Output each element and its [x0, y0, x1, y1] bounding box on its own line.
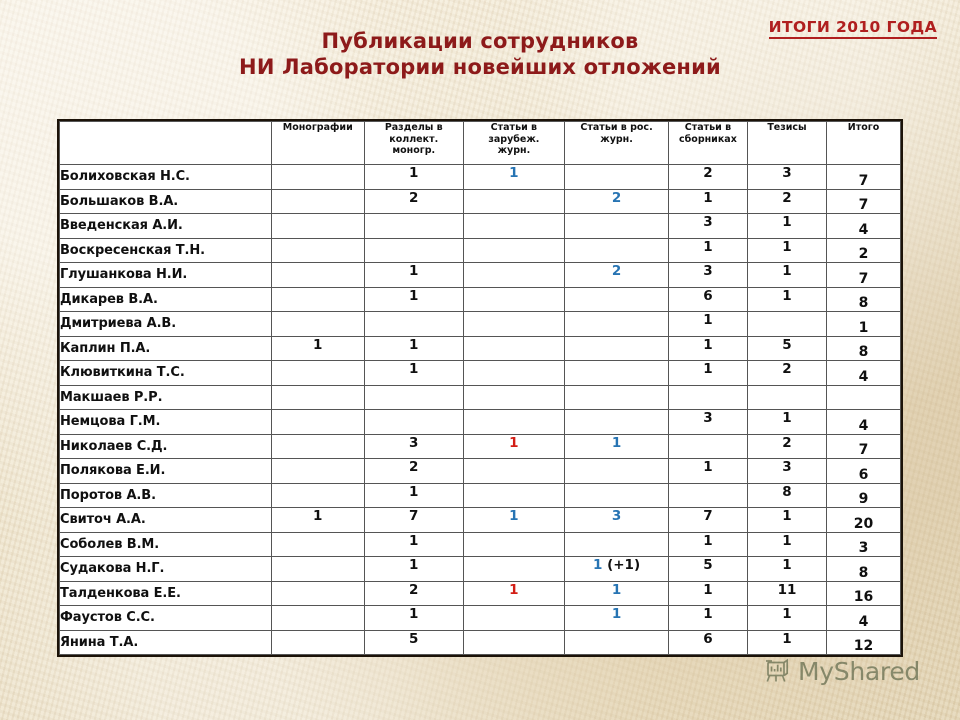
row-cell-2 [463, 557, 565, 582]
row-employee-name: Введенская А.И. [60, 214, 272, 239]
row-cell-3 [565, 238, 669, 263]
row-cell-0 [271, 581, 364, 606]
row-cell-1: 1 [364, 483, 463, 508]
row-cell-1: 3 [364, 434, 463, 459]
cell-value: 1 [509, 582, 518, 598]
row-cell-3: 2 [565, 189, 669, 214]
row-cell-5: 1 [747, 508, 826, 533]
publications-grid: МонографииРазделы вколлект.моногр.Статьи… [59, 121, 901, 655]
row-cell-3 [565, 532, 669, 557]
cell-value: 1 [782, 288, 791, 304]
cell-value: 1 [612, 606, 621, 622]
cell-value: 1 [703, 312, 712, 328]
column-header-line: коллект. [365, 134, 463, 146]
row-cell-0 [271, 532, 364, 557]
column-header-5: Тезисы [747, 122, 826, 165]
page-title-line-2: НИ Лаборатории новейших отложений [0, 54, 960, 81]
row-cell-1: 5 [364, 630, 463, 655]
cell-value: 3 [782, 459, 791, 475]
cell-value: 3 [782, 165, 791, 181]
cell-value: 1 [409, 337, 418, 353]
column-header-line: Разделы в [365, 122, 463, 134]
table-row: Немцова Г.М.314 [60, 410, 901, 435]
row-cell-5 [747, 312, 826, 337]
row-cell-1: 2 [364, 459, 463, 484]
cell-value: 3 [612, 508, 621, 524]
cell-value: 1 [612, 582, 621, 598]
row-cell-1 [364, 238, 463, 263]
row-cell-3 [565, 385, 669, 410]
row-cell-3 [565, 361, 669, 386]
row-cell-1: 2 [364, 189, 463, 214]
row-cell-2 [463, 263, 565, 288]
row-cell-0: 1 [271, 508, 364, 533]
row-cell-0 [271, 238, 364, 263]
row-cell-2 [463, 532, 565, 557]
row-cell-4: 1 [668, 532, 747, 557]
table-row: Янина Т.А.56112 [60, 630, 901, 655]
row-cell-5: 1 [747, 630, 826, 655]
column-header-line: Статьи в [669, 122, 747, 134]
row-cell-3 [565, 630, 669, 655]
row-cell-2: 1 [463, 165, 565, 190]
cell-value: 2 [782, 190, 791, 206]
row-employee-name: Дмитриева А.В. [60, 312, 272, 337]
row-cell-4: 1 [668, 361, 747, 386]
row-cell-0 [271, 214, 364, 239]
row-employee-name: Янина Т.А. [60, 630, 272, 655]
row-total: 16 [827, 581, 901, 606]
row-employee-name: Болиховская Н.С. [60, 165, 272, 190]
cell-value: 2 [409, 190, 418, 206]
row-cell-1: 1 [364, 606, 463, 631]
row-cell-2 [463, 385, 565, 410]
cell-value: 1 [782, 631, 791, 647]
column-header-line: журн. [464, 145, 565, 157]
row-cell-3 [565, 165, 669, 190]
row-cell-4: 1 [668, 238, 747, 263]
cell-value: 1 [509, 508, 518, 524]
table-row: Клювиткина Т.С.1124 [60, 361, 901, 386]
table-row: Фаустов С.С.11114 [60, 606, 901, 631]
column-header-line: Итого [827, 122, 900, 134]
cell-value: 2 [782, 361, 791, 377]
table-row: Болиховская Н.С.11237 [60, 165, 901, 190]
row-cell-1: 1 [364, 361, 463, 386]
column-header-line: Статьи в [464, 122, 565, 134]
row-cell-0 [271, 312, 364, 337]
cell-value: 1 [782, 508, 791, 524]
column-header-4: Статьи всборниках [668, 122, 747, 165]
cell-value: 2 [409, 459, 418, 475]
row-cell-1: 7 [364, 508, 463, 533]
row-cell-5: 2 [747, 361, 826, 386]
row-cell-4: 3 [668, 263, 747, 288]
cell-value: 1 [612, 435, 621, 451]
cell-value: 1 [703, 459, 712, 475]
cell-value: 1 [409, 263, 418, 279]
table-header: МонографииРазделы вколлект.моногр.Статьи… [60, 122, 901, 165]
cell-value: 1 [409, 557, 418, 573]
row-cell-2 [463, 630, 565, 655]
column-header-line: Тезисы [748, 122, 826, 134]
cell-value: 1 [782, 533, 791, 549]
row-cell-1: 1 [364, 263, 463, 288]
row-cell-4: 1 [668, 606, 747, 631]
cell-value: 1 [509, 165, 518, 181]
row-cell-4: 2 [668, 165, 747, 190]
row-cell-1: 1 [364, 336, 463, 361]
row-employee-name: Клювиткина Т.С. [60, 361, 272, 386]
row-employee-name: Николаев С.Д. [60, 434, 272, 459]
cell-value: 1 [593, 557, 602, 573]
row-cell-5: 3 [747, 165, 826, 190]
row-cell-5: 2 [747, 189, 826, 214]
table-row: Большаков В.А.22127 [60, 189, 901, 214]
row-cell-3 [565, 312, 669, 337]
cell-value: 1 [703, 239, 712, 255]
row-cell-3: 2 [565, 263, 669, 288]
column-header-line: Статьи в рос. [565, 122, 668, 134]
cell-value: 11 [778, 582, 797, 598]
row-total: 4 [827, 410, 901, 435]
row-cell-5: 1 [747, 263, 826, 288]
row-employee-name: Свиточ А.А. [60, 508, 272, 533]
row-total: 6 [827, 459, 901, 484]
row-cell-3 [565, 287, 669, 312]
row-total: 4 [827, 214, 901, 239]
row-cell-3: 3 [565, 508, 669, 533]
table-row: Дмитриева А.В.11 [60, 312, 901, 337]
row-cell-4: 1 [668, 581, 747, 606]
row-cell-2 [463, 459, 565, 484]
row-cell-0 [271, 263, 364, 288]
cell-value: 5 [782, 337, 791, 353]
row-cell-2: 1 [463, 508, 565, 533]
cell-value: 1 [409, 533, 418, 549]
row-cell-4: 3 [668, 410, 747, 435]
row-cell-4: 1 [668, 459, 747, 484]
row-employee-name: Каплин П.А. [60, 336, 272, 361]
cell-value: 2 [612, 263, 621, 279]
cell-value: 1 [313, 337, 322, 353]
table-row: Свиточ А.А.17137120 [60, 508, 901, 533]
row-total: 9 [827, 483, 901, 508]
row-cell-0: 1 [271, 336, 364, 361]
row-total [827, 385, 901, 410]
row-cell-3: 1 [565, 606, 669, 631]
column-header-2: Статьи взарубеж.журн. [463, 122, 565, 165]
cell-value-suffix: (+1) [602, 557, 640, 573]
column-header-name [60, 122, 272, 165]
table-row: Полякова Е.И.2136 [60, 459, 901, 484]
row-cell-4 [668, 434, 747, 459]
row-cell-3: 1 [565, 434, 669, 459]
cell-value: 1 [782, 606, 791, 622]
row-cell-5: 1 [747, 238, 826, 263]
row-total: 20 [827, 508, 901, 533]
row-cell-2 [463, 410, 565, 435]
row-cell-2 [463, 287, 565, 312]
row-total: 12 [827, 630, 901, 655]
row-total: 2 [827, 238, 901, 263]
watermark-label: MyShared [798, 657, 920, 686]
cell-value: 1 [409, 361, 418, 377]
row-employee-name: Воскресенская Т.Н. [60, 238, 272, 263]
row-total: 8 [827, 287, 901, 312]
cell-value: 2 [409, 582, 418, 598]
row-cell-2 [463, 312, 565, 337]
row-cell-0 [271, 410, 364, 435]
cell-value: 7 [409, 508, 418, 524]
row-cell-0 [271, 361, 364, 386]
row-employee-name: Соболев В.М. [60, 532, 272, 557]
row-cell-5: 1 [747, 532, 826, 557]
row-total: 4 [827, 606, 901, 631]
row-employee-name: Немцова Г.М. [60, 410, 272, 435]
cell-value: 7 [703, 508, 712, 524]
presentation-chart-icon [762, 656, 792, 686]
row-cell-1: 1 [364, 165, 463, 190]
row-cell-3 [565, 214, 669, 239]
row-cell-4: 5 [668, 557, 747, 582]
row-total: 8 [827, 557, 901, 582]
cell-value: 1 [509, 435, 518, 451]
row-employee-name: Талденкова Е.Е. [60, 581, 272, 606]
row-cell-1 [364, 410, 463, 435]
table-row: Макшаев Р.Р. [60, 385, 901, 410]
myshared-watermark: MyShared [762, 656, 920, 686]
row-cell-2 [463, 361, 565, 386]
row-employee-name: Судакова Н.Г. [60, 557, 272, 582]
row-cell-0 [271, 557, 364, 582]
cell-value: 2 [612, 190, 621, 206]
row-cell-5: 1 [747, 410, 826, 435]
row-cell-2 [463, 336, 565, 361]
table-row: Глушанкова Н.И.12317 [60, 263, 901, 288]
row-cell-4 [668, 483, 747, 508]
table-header-row: МонографииРазделы вколлект.моногр.Статьи… [60, 122, 901, 165]
table-row: Дикарев В.А.1618 [60, 287, 901, 312]
cell-value: 2 [703, 165, 712, 181]
row-cell-0 [271, 189, 364, 214]
cell-value: 1 [703, 337, 712, 353]
row-cell-5: 1 [747, 557, 826, 582]
row-cell-2 [463, 483, 565, 508]
results-year-badge: ИТОГИ 2010 ГОДА [769, 18, 937, 39]
cell-value: 1 [782, 410, 791, 426]
table-row: Поротов А.В.189 [60, 483, 901, 508]
row-cell-2 [463, 238, 565, 263]
row-total: 8 [827, 336, 901, 361]
column-header-line: зарубеж. [464, 134, 565, 146]
column-header-3: Статьи в рос.журн. [565, 122, 669, 165]
row-cell-0 [271, 606, 364, 631]
table-row: Николаев С.Д.31127 [60, 434, 901, 459]
cell-value: 5 [409, 631, 418, 647]
row-employee-name: Дикарев В.А. [60, 287, 272, 312]
cell-value: 1 [703, 582, 712, 598]
table-row: Воскресенская Т.Н.112 [60, 238, 901, 263]
publications-table: МонографииРазделы вколлект.моногр.Статьи… [57, 119, 903, 657]
cell-value: 6 [703, 631, 712, 647]
row-cell-5: 2 [747, 434, 826, 459]
column-header-line: сборниках [669, 134, 747, 146]
row-cell-1 [364, 214, 463, 239]
row-cell-2 [463, 214, 565, 239]
cell-value: 1 [782, 263, 791, 279]
row-cell-0 [271, 459, 364, 484]
cell-value: 1 [782, 557, 791, 573]
row-cell-0 [271, 165, 364, 190]
row-employee-name: Поротов А.В. [60, 483, 272, 508]
row-employee-name: Большаков В.А. [60, 189, 272, 214]
cell-value: 1 [782, 239, 791, 255]
table-row: Талденкова Е.Е.21111116 [60, 581, 901, 606]
cell-value: 1 [409, 606, 418, 622]
row-cell-2: 1 [463, 434, 565, 459]
row-total: 7 [827, 165, 901, 190]
row-employee-name: Макшаев Р.Р. [60, 385, 272, 410]
row-cell-5: 1 [747, 606, 826, 631]
cell-value: 8 [782, 484, 791, 500]
row-cell-0 [271, 385, 364, 410]
row-cell-1: 2 [364, 581, 463, 606]
table-row: Введенская А.И.314 [60, 214, 901, 239]
row-cell-0 [271, 287, 364, 312]
row-cell-3 [565, 336, 669, 361]
cell-value: 1 [409, 288, 418, 304]
cell-value: 1 [782, 214, 791, 230]
row-cell-0 [271, 434, 364, 459]
row-cell-5: 1 [747, 287, 826, 312]
row-cell-5: 8 [747, 483, 826, 508]
row-cell-3 [565, 483, 669, 508]
row-cell-4: 6 [668, 630, 747, 655]
cell-value: 1 [313, 508, 322, 524]
row-employee-name: Фаустов С.С. [60, 606, 272, 631]
row-cell-3: 1 [565, 581, 669, 606]
row-employee-name: Полякова Е.И. [60, 459, 272, 484]
row-total: 7 [827, 434, 901, 459]
row-cell-5: 11 [747, 581, 826, 606]
cell-value: 3 [703, 410, 712, 426]
cell-value: 1 [409, 484, 418, 500]
cell-value: 3 [409, 435, 418, 451]
table-row: Судакова Н.Г.11 (+1)518 [60, 557, 901, 582]
column-header-0: Монографии [271, 122, 364, 165]
row-cell-3: 1 (+1) [565, 557, 669, 582]
cell-value: 3 [703, 263, 712, 279]
row-cell-0 [271, 483, 364, 508]
row-total: 3 [827, 532, 901, 557]
row-cell-1: 1 [364, 287, 463, 312]
row-cell-2: 1 [463, 581, 565, 606]
cell-value: 6 [703, 288, 712, 304]
row-cell-1 [364, 385, 463, 410]
row-cell-4: 7 [668, 508, 747, 533]
row-cell-4: 6 [668, 287, 747, 312]
cell-value: 1 [703, 190, 712, 206]
row-cell-4 [668, 385, 747, 410]
row-cell-5: 1 [747, 214, 826, 239]
row-employee-name: Глушанкова Н.И. [60, 263, 272, 288]
cell-value: 2 [782, 435, 791, 451]
cell-value: 1 [703, 533, 712, 549]
row-cell-1: 1 [364, 557, 463, 582]
row-cell-0 [271, 630, 364, 655]
row-total: 7 [827, 189, 901, 214]
row-total: 4 [827, 361, 901, 386]
row-total: 7 [827, 263, 901, 288]
cell-value: 1 [409, 165, 418, 181]
column-header-6: Итого [827, 122, 901, 165]
row-cell-5 [747, 385, 826, 410]
table-row: Соболев В.М.1113 [60, 532, 901, 557]
table-row: Каплин П.А.11158 [60, 336, 901, 361]
row-cell-5: 5 [747, 336, 826, 361]
column-header-line: Монографии [272, 122, 364, 134]
row-cell-4: 3 [668, 214, 747, 239]
row-total: 1 [827, 312, 901, 337]
table-body: Болиховская Н.С.11237Большаков В.А.22127… [60, 165, 901, 655]
row-cell-3 [565, 459, 669, 484]
column-header-line: журн. [565, 134, 668, 146]
column-header-1: Разделы вколлект.моногр. [364, 122, 463, 165]
row-cell-4: 1 [668, 336, 747, 361]
cell-value: 1 [703, 606, 712, 622]
cell-value: 1 [703, 361, 712, 377]
row-cell-3 [565, 410, 669, 435]
row-cell-5: 3 [747, 459, 826, 484]
row-cell-2 [463, 606, 565, 631]
row-cell-1: 1 [364, 532, 463, 557]
row-cell-1 [364, 312, 463, 337]
row-cell-2 [463, 189, 565, 214]
cell-value: 5 [703, 557, 712, 573]
column-header-line: моногр. [365, 145, 463, 157]
row-cell-4: 1 [668, 189, 747, 214]
cell-value: 3 [703, 214, 712, 230]
row-cell-4: 1 [668, 312, 747, 337]
